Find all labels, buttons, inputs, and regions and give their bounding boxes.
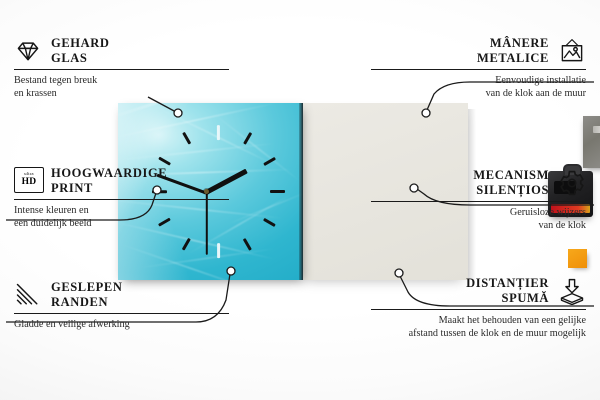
feature-title: HOOGWAARDIGEPRINT: [51, 166, 167, 196]
feature-geslepen-randen: GESLEPENRANDEN Gladde en veilige afwerki…: [14, 280, 229, 331]
divider: [371, 201, 586, 202]
feature-gehard-glas: GEHARDGLAS Bestand tegen breuken krassen: [14, 36, 229, 101]
feature-header: MECANISMSILENȚIOS: [371, 168, 586, 198]
feature-description: Intense kleuren eneen duidelijk beeld: [14, 204, 229, 231]
ultra-hd-icon-main: HD: [22, 178, 37, 188]
divider: [14, 199, 229, 200]
clock-tick: [216, 125, 219, 140]
feature-description: Geruisloze wijzersvan de klok: [371, 206, 586, 233]
feature-distantier-spuma: DISTANȚIERSPUMĂ Maakt het behouden van e…: [371, 276, 586, 341]
feature-description: Maakt het behouden van een gelijkeafstan…: [371, 314, 586, 341]
infographic-canvas: GEHARDGLAS Bestand tegen breuken krassen…: [0, 0, 600, 400]
clock-tick: [216, 243, 219, 258]
feature-header: GEHARDGLAS: [14, 36, 229, 66]
feature-header: GESLEPENRANDEN: [14, 280, 229, 310]
hanging-picture-icon: [558, 37, 586, 65]
feature-description: Eenvoudige installatievan de klok aan de…: [371, 74, 586, 101]
diamond-icon: [14, 37, 42, 65]
foam-spacer: [568, 249, 587, 268]
feature-manere-metalice: MÂNEREMETALICE Eenvoudige installatievan…: [371, 36, 586, 101]
feature-header: ultra HD HOOGWAARDIGEPRINT: [14, 166, 229, 196]
feature-title: GESLEPENRANDEN: [51, 280, 123, 310]
ultra-hd-icon: ultra HD: [14, 167, 42, 195]
divider: [371, 69, 586, 70]
beveled-edge-icon: [14, 281, 42, 309]
feature-title: MÂNEREMETALICE: [477, 36, 549, 66]
gear-icon: [558, 169, 586, 197]
feature-description: Gladde en veilige afwerking: [14, 318, 229, 331]
divider: [371, 309, 586, 310]
spacer-arrow-icon: [558, 277, 586, 305]
feature-title: GEHARDGLAS: [51, 36, 109, 66]
metal-hanger-plate: [583, 116, 600, 168]
clock-glass-edge: [299, 103, 303, 280]
feature-description: Bestand tegen breuken krassen: [14, 74, 229, 101]
clock-tick: [270, 190, 285, 193]
feature-title: MECANISMSILENȚIOS: [473, 168, 549, 198]
feature-header: MÂNEREMETALICE: [371, 36, 586, 66]
feature-mecanism-silentios: MECANISMSILENȚIOS Geruisloze wijzersvan …: [371, 168, 586, 233]
feature-header: DISTANȚIERSPUMĂ: [371, 276, 586, 306]
feature-title: DISTANȚIERSPUMĂ: [466, 276, 549, 306]
divider: [14, 69, 229, 70]
divider: [14, 313, 229, 314]
feature-hoogwaardige-print: ultra HD HOOGWAARDIGEPRINT Intense kleur…: [14, 166, 229, 231]
